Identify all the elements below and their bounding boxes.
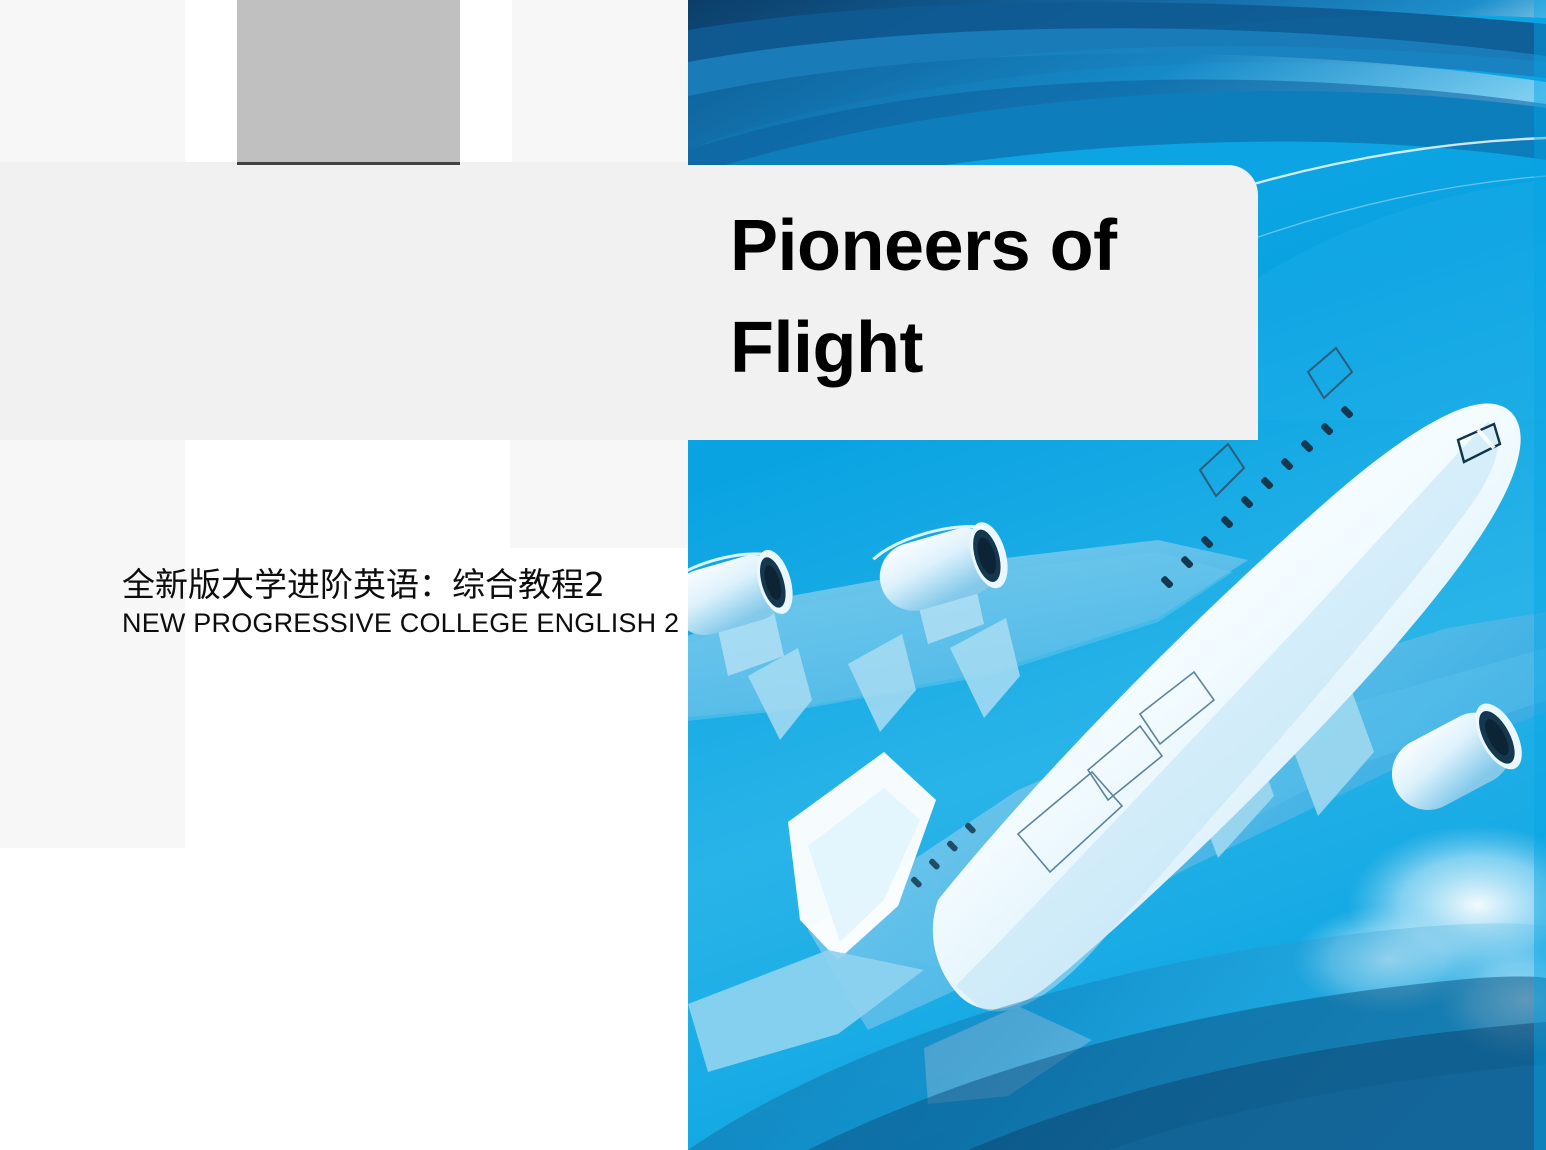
bg-panel-top-right <box>512 0 688 162</box>
bg-gray-block-top <box>237 0 460 162</box>
course-subtitle-block: 全新版大学进阶英语：综合教程2 NEW PROGRESSIVE COLLEGE … <box>122 565 682 641</box>
bg-panel-mid-right <box>510 440 688 548</box>
course-name-english: NEW PROGRESSIVE COLLEGE ENGLISH 2 <box>122 607 682 641</box>
course-name-chinese: 全新版大学进阶英语：综合教程2 <box>122 565 682 605</box>
slide-title-line-1: Pioneers of <box>730 195 1258 297</box>
bg-panel-top-left <box>0 0 185 162</box>
slide-title-line-2: Flight <box>730 297 1258 399</box>
title-slide: 5 Pioneers of Flight 全新版大学进阶英语：综合教程2 NEW… <box>0 0 1546 1150</box>
title-card: Pioneers of Flight <box>0 165 1258 440</box>
